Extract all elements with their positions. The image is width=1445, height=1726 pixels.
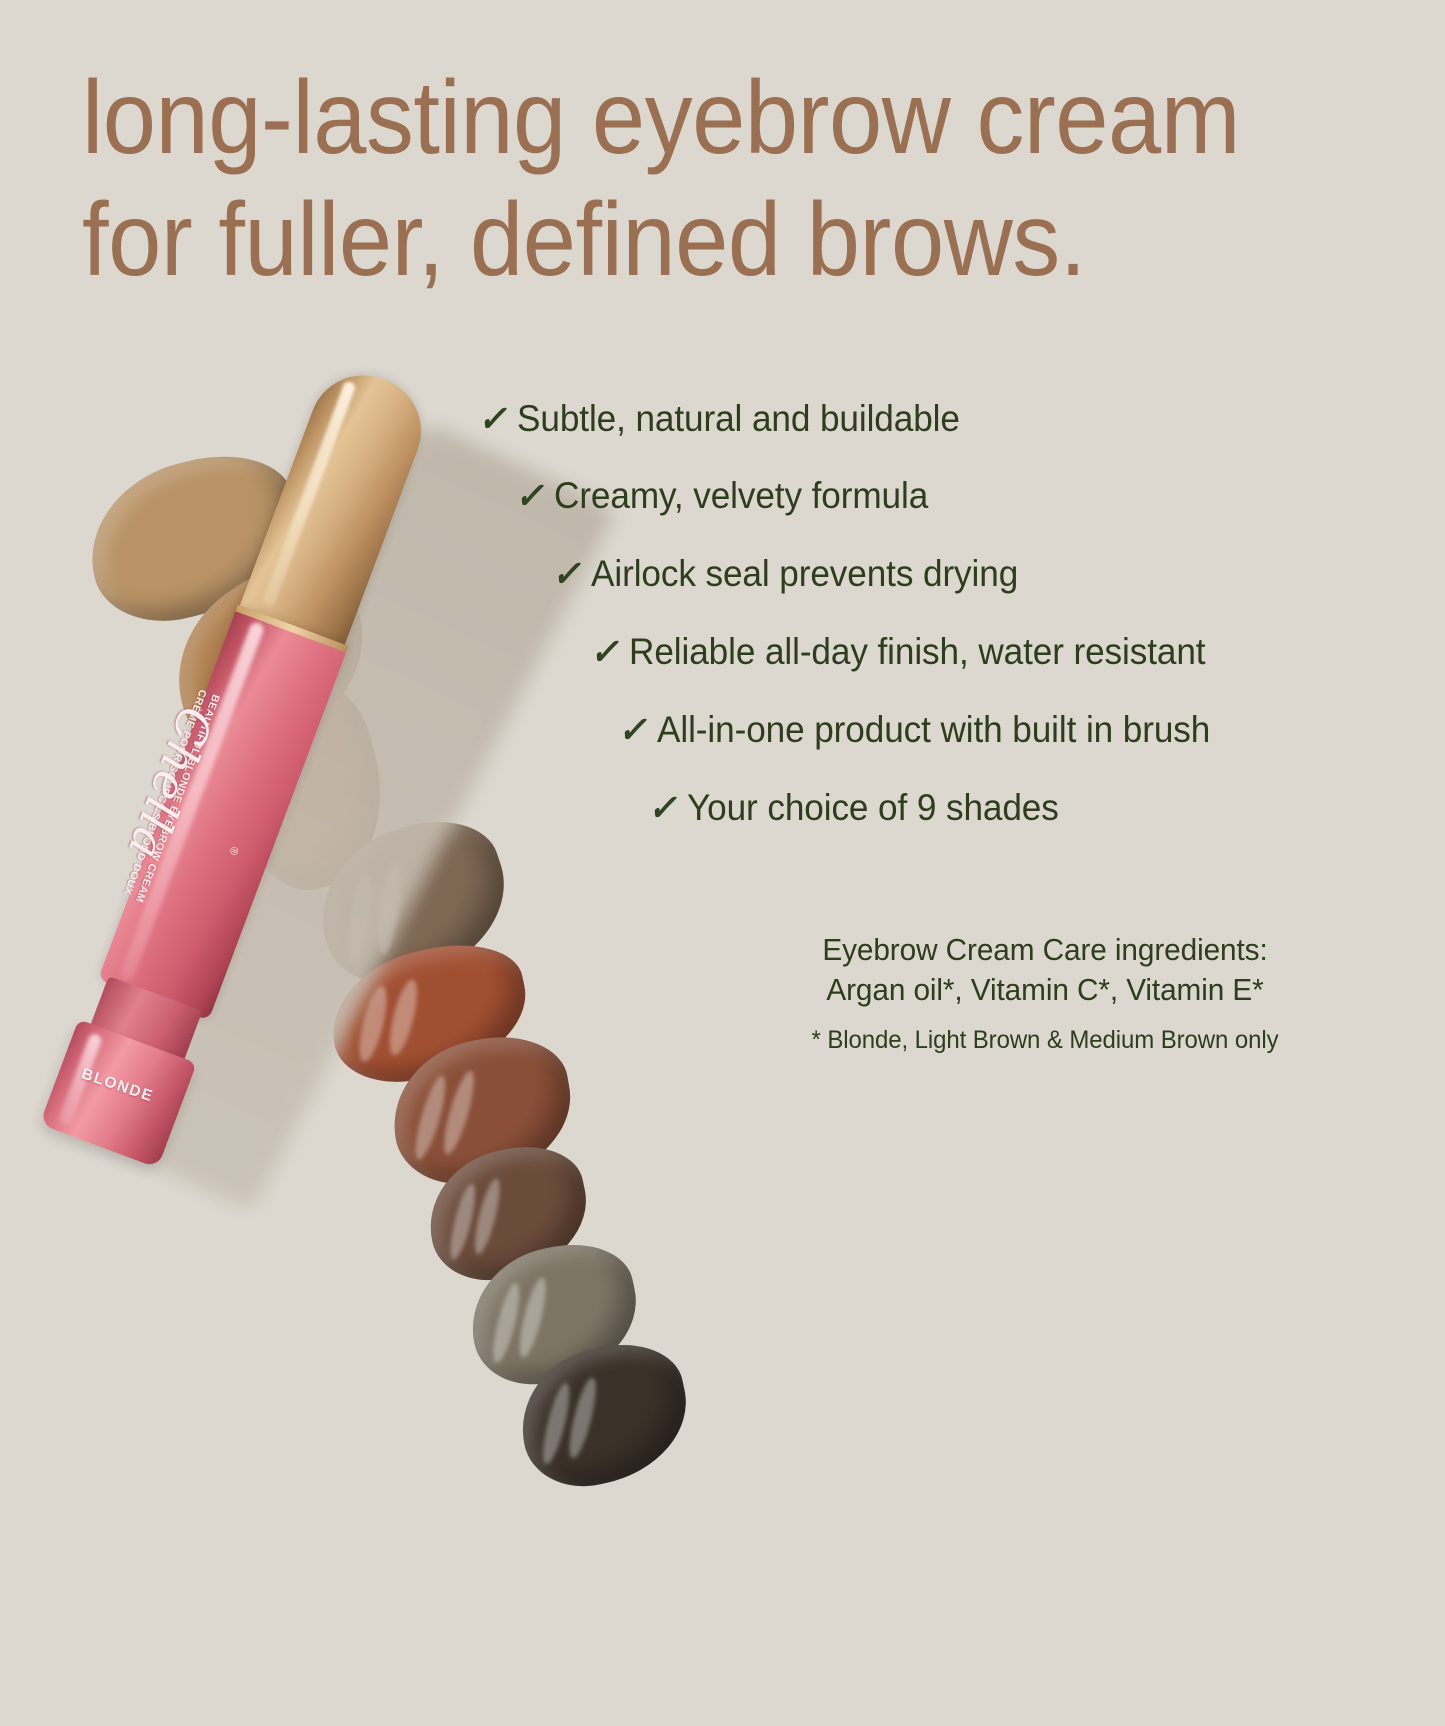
ingredients-block: Eyebrow Cream Care ingredients: Argan oi… bbox=[735, 930, 1355, 1011]
registered-mark-icon: ® bbox=[226, 845, 240, 857]
product-photography: BEAUTIFUL BLONDE EYEBROW CREAM CRÈME POU… bbox=[0, 380, 860, 1445]
benefit-item: ✓Your choice of 9 shades bbox=[648, 787, 1059, 829]
ingredients-footnote: * Blonde, Light Brown & Medium Brown onl… bbox=[747, 1026, 1342, 1055]
cap-highlight bbox=[262, 380, 357, 607]
check-icon: ✓ bbox=[590, 634, 619, 670]
benefit-label: Your choice of 9 shades bbox=[687, 787, 1059, 829]
check-icon: ✓ bbox=[648, 790, 677, 826]
check-icon: ✓ bbox=[552, 556, 581, 592]
benefit-item: ✓All-in-one product with built in brush bbox=[618, 709, 1210, 751]
benefit-item: ✓Reliable all-day finish, water resistan… bbox=[590, 631, 1205, 673]
swatch-shadow bbox=[0, 1163, 191, 1332]
benefit-label: Airlock seal prevents drying bbox=[591, 553, 1018, 595]
benefit-item: ✓Airlock seal prevents drying bbox=[552, 553, 1018, 595]
benefit-item: ✓Subtle, natural and buildable bbox=[478, 398, 960, 440]
shade-name-label: BLONDE bbox=[79, 1065, 156, 1106]
benefit-label: Subtle, natural and buildable bbox=[517, 398, 960, 440]
check-icon: ✓ bbox=[515, 478, 544, 514]
benefit-item: ✓Creamy, velvety formula bbox=[515, 475, 928, 517]
check-icon: ✓ bbox=[478, 401, 507, 437]
benefit-label: All-in-one product with built in brush bbox=[657, 709, 1210, 751]
product-marketing-banner: long-lasting eyebrow cream for fuller, d… bbox=[0, 0, 1445, 1445]
benefit-label: Creamy, velvety formula bbox=[554, 475, 928, 517]
benefit-label: Reliable all-day finish, water resistant bbox=[629, 631, 1205, 673]
page-title: long-lasting eyebrow cream for fuller, d… bbox=[82, 58, 1306, 301]
ingredients-line-1: Eyebrow Cream Care ingredients: bbox=[747, 930, 1342, 970]
check-icon: ✓ bbox=[618, 712, 647, 748]
ingredients-line-2: Argan oil*, Vitamin C*, Vitamin E* bbox=[747, 970, 1342, 1010]
